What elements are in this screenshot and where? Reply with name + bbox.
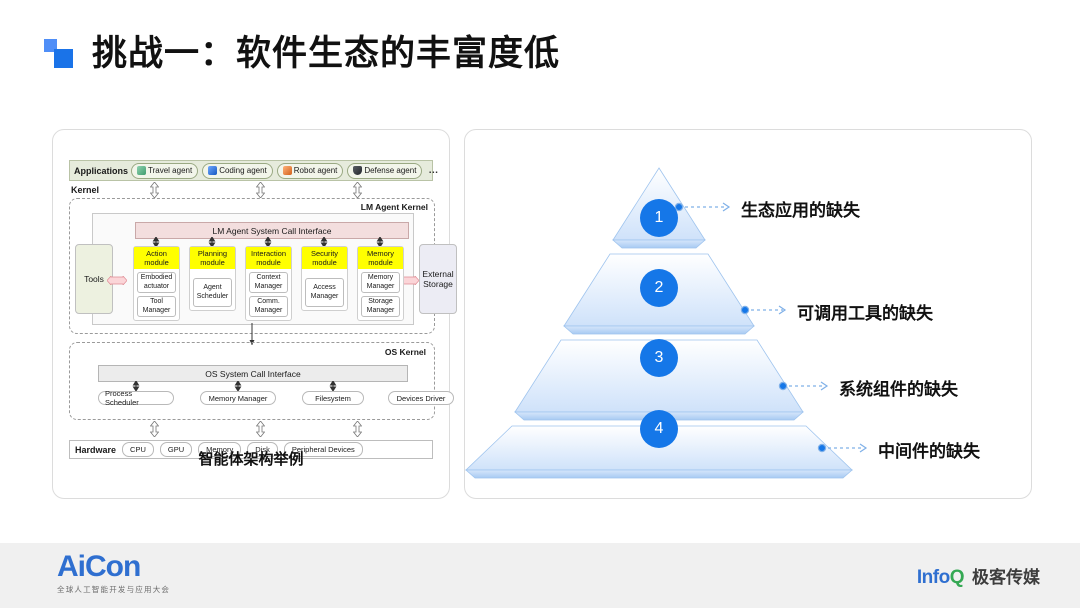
pyramid-level-label-2: 可调用工具的缺失	[797, 299, 933, 324]
defense-agent-icon	[353, 166, 362, 175]
left-panel: Applications Travel agent Coding agent R…	[52, 129, 450, 499]
app-chip-label: Robot agent	[294, 166, 338, 175]
aicon-word-part-b: on	[106, 550, 141, 583]
module-subitem: Agent Scheduler	[193, 278, 232, 307]
double-arrow-icon	[353, 182, 362, 198]
left-panel-caption: 智能体架构举例	[53, 448, 449, 469]
lm-agent-kernel-title: LM Agent Kernel	[361, 202, 428, 212]
module-subitem: Context Manager	[249, 272, 288, 293]
logo-square-large	[54, 49, 73, 68]
double-arrow-icon	[353, 421, 362, 437]
module-head: Planning module	[190, 247, 235, 269]
coding-agent-icon	[208, 166, 217, 175]
applications-bar: Applications Travel agent Coding agent R…	[69, 160, 433, 181]
brand-logo-icon	[44, 37, 78, 71]
double-arrow-icon	[256, 182, 265, 198]
aicon-wordmark: AiCon	[57, 551, 170, 583]
module-subitem: Memory Manager	[361, 272, 400, 293]
pyramid-level-number-1: 1	[640, 199, 678, 237]
module-subitem: Embodied actuator	[137, 272, 176, 293]
kernel-label: Kernel	[71, 185, 99, 195]
module-memory: Memory module Memory Manager Storage Man…	[357, 246, 404, 321]
module-head: Security module	[302, 247, 347, 269]
applications-label: Applications	[74, 166, 128, 176]
robot-agent-icon	[283, 166, 292, 175]
os-item: Devices Driver	[388, 391, 454, 405]
infoq-info-text: Info	[917, 567, 950, 588]
module-head: Action module	[134, 247, 179, 269]
travel-agent-icon	[137, 166, 146, 175]
applications-overflow-ellipsis: …	[428, 165, 438, 176]
tools-link-arrow-icon	[107, 276, 127, 285]
app-chip-defense-agent: Defense agent	[347, 163, 422, 179]
os-kernel-title: OS Kernel	[385, 347, 426, 357]
infoq-wordmark: InfoQ	[917, 567, 964, 589]
pyramid-level-label-4: 中间件的缺失	[878, 437, 980, 462]
infoq-chinese-name: 极客传媒	[972, 563, 1040, 588]
pyramid-level-label-1: 生态应用的缺失	[741, 196, 860, 221]
module-head: Memory module	[358, 247, 403, 269]
pyramid-level-number-4: 4	[640, 410, 678, 448]
aicon-logo: AiCon 全球人工智能开发与应用大会	[57, 551, 170, 595]
app-chip-coding-agent: Coding agent	[202, 163, 273, 179]
footer-bar: AiCon 全球人工智能开发与应用大会 InfoQ 极客传媒	[0, 543, 1080, 608]
pyramid-level-number-2: 2	[640, 269, 678, 307]
os-item: Memory Manager	[200, 391, 276, 405]
agent-architecture-diagram: Applications Travel agent Coding agent R…	[53, 130, 449, 498]
app-chip-label: Travel agent	[148, 166, 192, 175]
os-item: Filesystem	[302, 391, 364, 405]
double-arrow-icon	[256, 421, 265, 437]
aicon-subtitle: 全球人工智能开发与应用大会	[57, 584, 170, 595]
pyramid-level-label-3: 系统组件的缺失	[839, 375, 958, 400]
pyramid-level-number-3: 3	[640, 339, 678, 377]
double-arrow-icon	[150, 421, 159, 437]
app-chip-label: Coding agent	[219, 166, 267, 175]
module-security: Security module Access Manager	[301, 246, 348, 311]
module-subitem: Comm. Manager	[249, 296, 288, 317]
infoq-logo: InfoQ 极客传媒	[917, 563, 1040, 589]
module-planning: Planning module Agent Scheduler	[189, 246, 236, 311]
module-head: Interaction module	[246, 247, 291, 269]
pyramid-diagram: 1 2 3 4 生态应用的缺失 可调用工具的缺失 系统组件的缺失 中间件的缺失	[465, 130, 1031, 498]
double-arrow-icon	[150, 182, 159, 198]
module-interaction: Interaction module Context Manager Comm.…	[245, 246, 292, 321]
app-chip-robot-agent: Robot agent	[277, 163, 344, 179]
module-subitem: Access Manager	[305, 278, 344, 307]
title-text: 挑战一：软件生态的丰富度低	[92, 36, 560, 71]
os-item: Process Scheduler	[98, 391, 174, 405]
lm-agent-kernel-section: LM Agent Kernel LM Agent System Call Int…	[69, 198, 435, 334]
external-storage-box: External Storage	[419, 244, 457, 314]
module-action: Action module Embodied actuator Tool Man…	[133, 246, 180, 321]
os-syscall-interface: OS System Call Interface	[98, 365, 408, 382]
infoq-q-text: Q	[950, 567, 964, 588]
aicon-word-part-a: AiC	[57, 550, 106, 583]
page-title: 挑战一：软件生态的丰富度低	[44, 36, 560, 71]
app-chip-label: Defense agent	[364, 166, 416, 175]
module-subitem: Storage Manager	[361, 296, 400, 317]
app-chip-travel-agent: Travel agent	[131, 163, 198, 179]
module-subitem: Tool Manager	[137, 296, 176, 317]
right-panel: 1 2 3 4 生态应用的缺失 可调用工具的缺失 系统组件的缺失 中间件的缺失	[464, 129, 1032, 499]
os-kernel-section: OS Kernel OS System Call Interface Proce…	[69, 342, 435, 420]
lm-agent-kernel-inner: LM Agent System Call Interface Tools Ext…	[92, 213, 414, 325]
